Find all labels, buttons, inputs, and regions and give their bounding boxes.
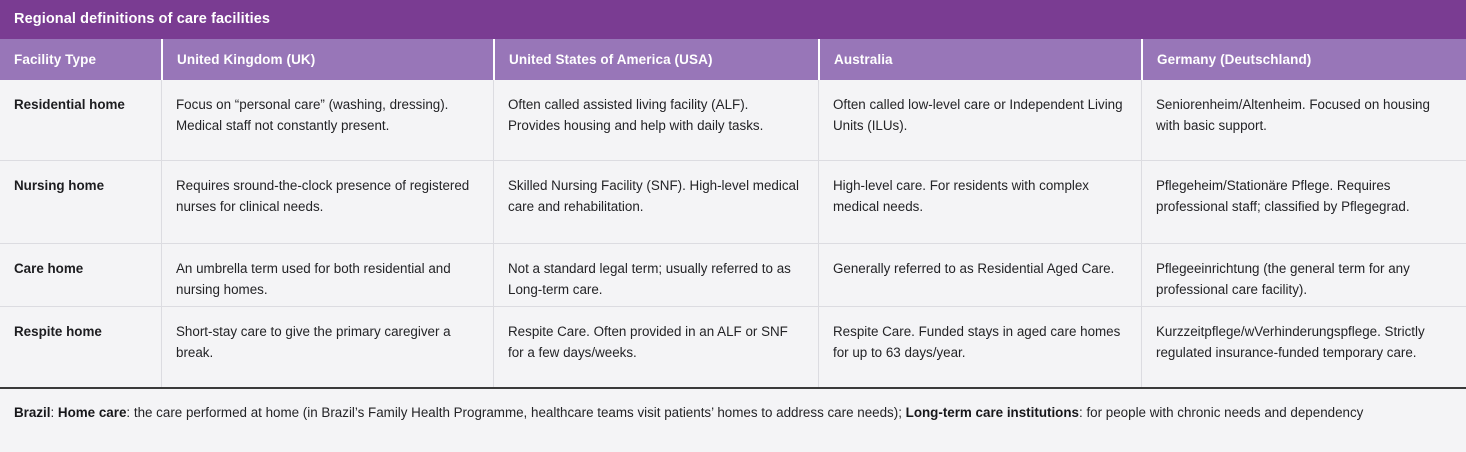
- table-row: Residential home Focus on “personal care…: [0, 80, 1466, 161]
- table-row: Respite home Short-stay care to give the…: [0, 307, 1466, 387]
- table-body: Residential home Focus on “personal care…: [0, 80, 1466, 389]
- regional-definitions-table: Regional definitions of care facilities …: [0, 0, 1466, 450]
- cell-respite-home-uk: Short-stay care to give the primary care…: [161, 307, 493, 387]
- table-row: Nursing home Requires sround-the-clock p…: [0, 161, 1466, 244]
- footnote-term-1: Home care: [58, 405, 126, 420]
- column-header-facility-type: Facility Type: [0, 39, 161, 80]
- cell-nursing-home-australia: High-level care. For residents with comp…: [818, 161, 1141, 243]
- cell-nursing-home-germany: Pflegeheim/Stationäre Pflege. Requires p…: [1141, 161, 1466, 243]
- footnote-text-2: : for people with chronic needs and depe…: [1079, 405, 1363, 420]
- row-header-care-home: Care home: [0, 244, 161, 306]
- row-header-nursing-home: Nursing home: [0, 161, 161, 243]
- column-header-australia: Australia: [818, 39, 1141, 80]
- table-title: Regional definitions of care facilities: [14, 12, 270, 27]
- column-header-germany: Germany (Deutschland): [1141, 39, 1466, 80]
- cell-respite-home-usa: Respite Care. Often provided in an ALF o…: [493, 307, 818, 387]
- cell-respite-home-australia: Respite Care. Funded stays in aged care …: [818, 307, 1141, 387]
- table-title-bar: Regional definitions of care facilities: [0, 0, 1466, 39]
- footnote-text-1: : the care performed at home (in Brazil’…: [126, 405, 905, 420]
- cell-care-home-uk: An umbrella term used for both residenti…: [161, 244, 493, 306]
- table-row: Care home An umbrella term used for both…: [0, 244, 1466, 307]
- column-header-uk: United Kingdom (UK): [161, 39, 493, 80]
- footnote-separator-1: :: [50, 405, 57, 420]
- column-header-usa: United States of America (USA): [493, 39, 818, 80]
- cell-care-home-germany: Pflegeeinrichtung (the general term for …: [1141, 244, 1466, 306]
- cell-nursing-home-uk: Requires sround-the-clock presence of re…: [161, 161, 493, 243]
- footnote-term-2: Long-term care institutions: [906, 405, 1079, 420]
- cell-residential-home-uk: Focus on “personal care” (washing, dress…: [161, 80, 493, 160]
- cell-care-home-australia: Generally referred to as Residential Age…: [818, 244, 1141, 306]
- footnote-country-label: Brazil: [14, 405, 50, 420]
- cell-residential-home-germany: Seniorenheim/Altenheim. Focused on housi…: [1141, 80, 1466, 160]
- row-header-residential-home: Residential home: [0, 80, 161, 160]
- table-header-row: Facility Type United Kingdom (UK) United…: [0, 39, 1466, 80]
- cell-nursing-home-usa: Skilled Nursing Facility (SNF). High-lev…: [493, 161, 818, 243]
- cell-care-home-usa: Not a standard legal term; usually refer…: [493, 244, 818, 306]
- cell-residential-home-usa: Often called assisted living facility (A…: [493, 80, 818, 160]
- row-header-respite-home: Respite home: [0, 307, 161, 387]
- table-footnote: Brazil: Home care: the care performed at…: [0, 389, 1466, 452]
- cell-respite-home-germany: Kurzzeitpflege/wVerhinderungspflege. Str…: [1141, 307, 1466, 387]
- cell-residential-home-australia: Often called low-level care or Independe…: [818, 80, 1141, 160]
